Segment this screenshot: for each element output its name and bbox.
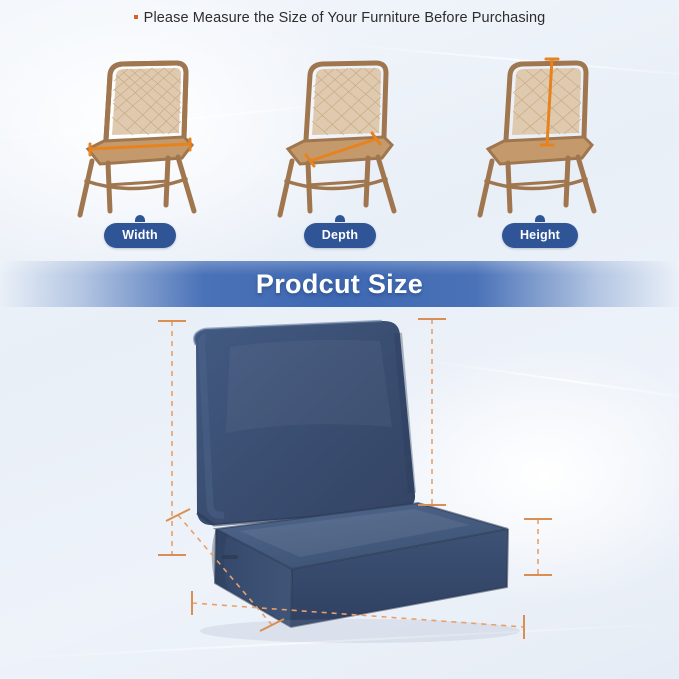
chair-label-height[interactable]: Height bbox=[502, 223, 578, 248]
chair-card-depth: Depth bbox=[240, 45, 440, 250]
product-area: 27" 21" 6" 24" 24" 6 Inches bbox=[0, 307, 679, 679]
headline-text: Please Measure the Size of Your Furnitur… bbox=[144, 10, 546, 26]
chair-label-width[interactable]: Width bbox=[104, 223, 176, 248]
chair-card-width: Width bbox=[40, 45, 240, 250]
pill-pointer bbox=[335, 215, 345, 222]
chair-label-depth[interactable]: Depth bbox=[304, 223, 376, 248]
chair-icon bbox=[264, 45, 416, 220]
chair-card-height: Height bbox=[440, 45, 640, 250]
chair-label-wrap: Height bbox=[440, 223, 640, 248]
chair-row: Width bbox=[0, 45, 679, 250]
bullet-icon bbox=[134, 15, 138, 19]
pill-pointer bbox=[535, 215, 545, 222]
headline: Please Measure the Size of Your Furnitur… bbox=[0, 10, 679, 26]
pill-pointer bbox=[135, 215, 145, 222]
banner-title: Prodcut Size bbox=[256, 269, 423, 300]
section-banner: Prodcut Size bbox=[0, 261, 679, 307]
chair-icon bbox=[464, 45, 616, 220]
cushion-illustration bbox=[0, 307, 679, 679]
back-cushion bbox=[194, 321, 415, 525]
chair-label-wrap: Width bbox=[40, 223, 240, 248]
infographic-page: Please Measure the Size of Your Furnitur… bbox=[0, 0, 679, 679]
chair-label-wrap: Depth bbox=[240, 223, 440, 248]
chair-icon bbox=[64, 45, 216, 220]
